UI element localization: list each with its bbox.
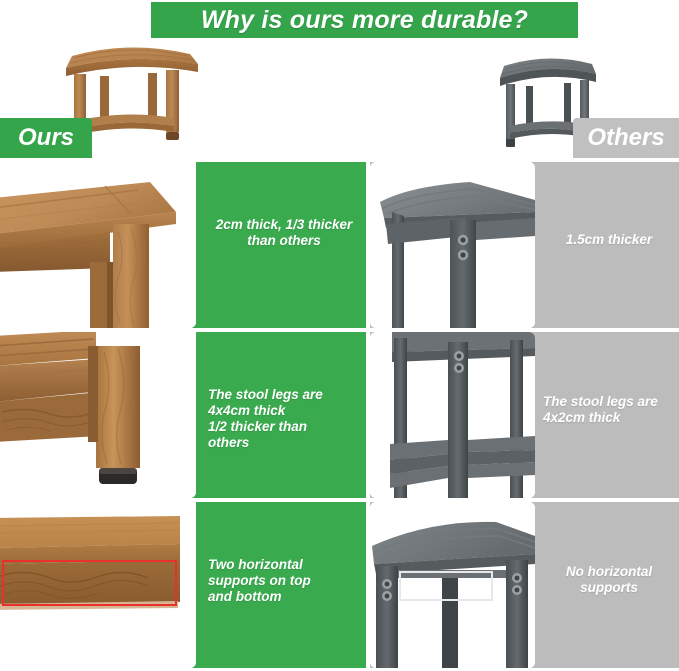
- comparison-rows: 2cm thick, 1/3 thicker than others: [0, 160, 679, 671]
- others-caption-thickness: 1.5cm thicker: [535, 162, 679, 328]
- others-caption-supports-text: No horizontal supports: [543, 564, 675, 596]
- others-image-supports: [370, 502, 535, 668]
- label-ours-text: Ours: [18, 124, 74, 152]
- ours-image-legs: [0, 332, 196, 498]
- page-title: Why is ours more durable?: [201, 6, 528, 35]
- ours-caption-supports: Two horizontal supports on top and botto…: [196, 502, 366, 668]
- ours-image-thickness: [0, 162, 196, 328]
- row-supports: Two horizontal supports on top and botto…: [0, 502, 679, 668]
- others-caption-supports: No horizontal supports: [535, 502, 679, 668]
- comparison-infographic: Why is ours more durable? Ours Others: [0, 0, 679, 671]
- header: Why is ours more durable? Ours Others: [0, 0, 679, 160]
- title-banner: Why is ours more durable?: [151, 2, 578, 38]
- others-image-legs: [370, 332, 535, 498]
- ours-caption-legs-text: The stool legs are 4x4cm thick 1/2 thick…: [208, 387, 360, 451]
- others-caption-legs: The stool legs are 4x2cm thick: [535, 332, 679, 498]
- ours-image-supports: [0, 502, 196, 668]
- ours-caption-supports-text: Two horizontal supports on top and botto…: [208, 557, 360, 605]
- label-others-text: Others: [587, 124, 664, 152]
- label-others: Others: [573, 118, 679, 158]
- others-image-thickness: [370, 162, 535, 328]
- label-ours: Ours: [0, 118, 92, 158]
- others-caption-legs-text: The stool legs are 4x2cm thick: [543, 394, 675, 426]
- row-thickness: 2cm thick, 1/3 thicker than others: [0, 162, 679, 328]
- ours-caption-thickness-text: 2cm thick, 1/3 thicker than others: [208, 217, 360, 249]
- ours-caption-legs: The stool legs are 4x4cm thick 1/2 thick…: [196, 332, 366, 498]
- ours-caption-thickness: 2cm thick, 1/3 thicker than others: [196, 162, 366, 328]
- row-legs: The stool legs are 4x4cm thick 1/2 thick…: [0, 332, 679, 498]
- others-caption-thickness-text: 1.5cm thicker: [543, 232, 675, 248]
